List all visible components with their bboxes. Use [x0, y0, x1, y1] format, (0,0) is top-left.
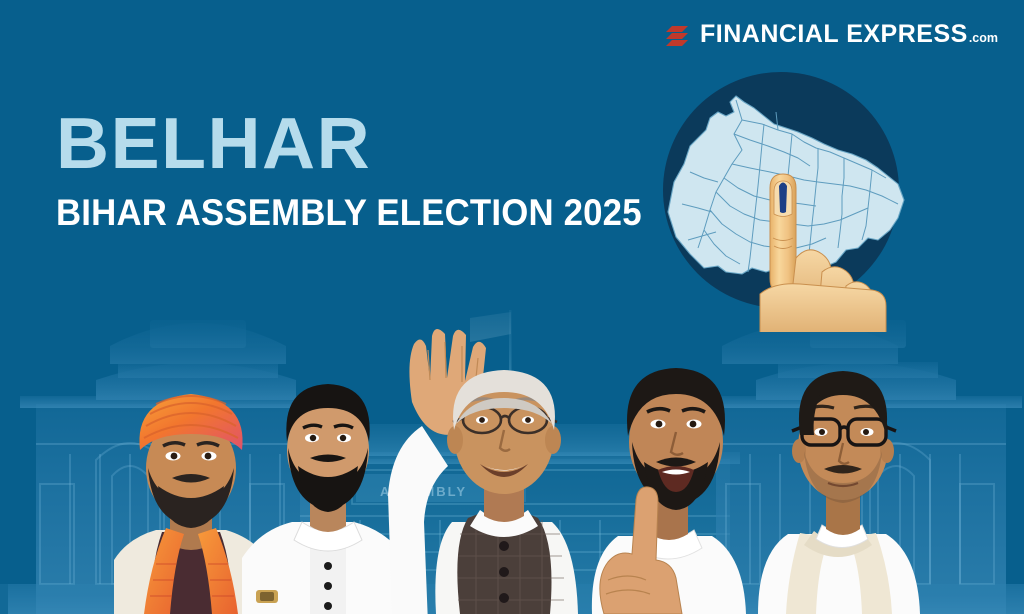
- leader-portraits-row: [0, 284, 1024, 614]
- financial-express-mark-icon: [664, 22, 690, 48]
- ink-mark: [779, 183, 787, 214]
- logo-text: FINANCIAL EXPRESS.com: [700, 20, 998, 49]
- election-banner: ASSEMBLY: [0, 0, 1024, 614]
- financial-express-logo[interactable]: FINANCIAL EXPRESS.com: [664, 20, 998, 49]
- page-title: BELHAR: [56, 108, 692, 180]
- leader-portrait-waving-central: [376, 284, 631, 614]
- headline-block: BELHAR BIHAR ASSEMBLY ELECTION 2025: [56, 108, 679, 232]
- logo-tld: .com: [969, 31, 998, 45]
- page-subtitle: BIHAR ASSEMBLY ELECTION 2025: [56, 194, 642, 232]
- logo-name: FINANCIAL EXPRESS: [700, 20, 968, 49]
